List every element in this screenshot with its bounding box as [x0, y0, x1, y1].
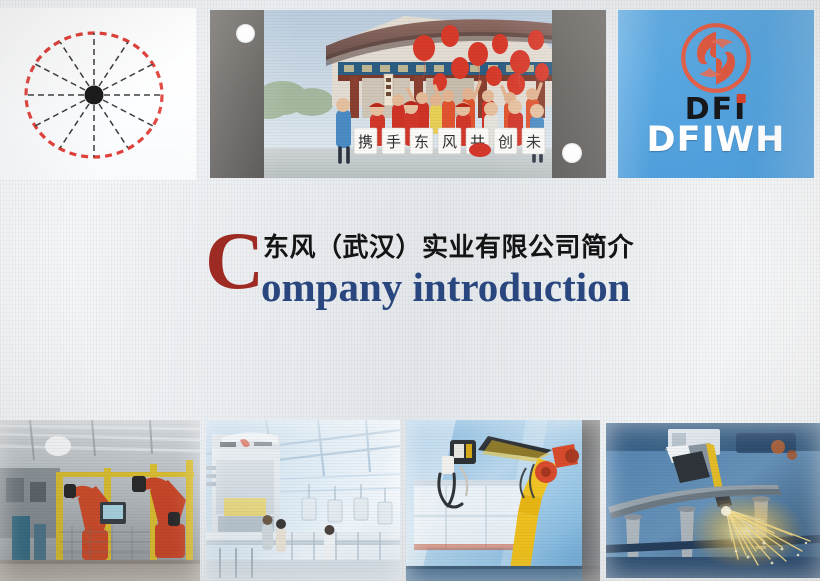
photo-laser-cutting-sparks — [606, 423, 820, 578]
svg-text:携: 携 — [358, 133, 373, 151]
spoke-wheel-diagram — [14, 22, 174, 168]
svg-text:风: 风 — [442, 133, 457, 151]
filmstrip-hole — [562, 143, 582, 163]
top-image-band: 携手 东风 共创 未 — [0, 0, 820, 182]
bottom-image-strip — [0, 420, 820, 581]
svg-text:创: 创 — [498, 133, 513, 151]
svg-text:手: 手 — [386, 133, 401, 151]
yellow-robot-arm-image — [406, 420, 600, 581]
filmstrip-band-right — [552, 10, 606, 178]
dongfeng-emblem-icon — [677, 19, 755, 97]
drop-cap-letter: C — [205, 220, 264, 302]
laser-cutting-sparks-image — [606, 423, 820, 578]
group-photo: 携手 东风 共创 未 — [264, 10, 552, 178]
dfiwh-wordmark: DFIWH — [647, 123, 786, 158]
dfi-accent-dot — [736, 94, 745, 103]
robotic-welding-line-image — [0, 420, 200, 581]
photo-yellow-robot-arm — [406, 420, 600, 581]
title-english: ompany introduction — [261, 263, 630, 311]
title-block: C 东风（武汉）实业有限公司简介 ompany introduction — [0, 224, 820, 334]
group-photo-panel: 携手 东风 共创 未 — [210, 10, 606, 178]
dongfeng-logo-panel: DFI DFIWH — [618, 10, 814, 178]
svg-text:东: 东 — [414, 133, 429, 151]
photo-stamping-press-hall — [206, 420, 400, 581]
photo-robotic-welding-line — [0, 420, 200, 581]
wheel-diagram-panel — [0, 8, 196, 180]
spoke-wheel-icon — [14, 22, 174, 168]
svg-text:未: 未 — [526, 133, 541, 151]
presentation-slide: 携手 东风 共创 未 — [0, 0, 820, 581]
dongfeng-twin-swallow-emblem — [677, 19, 755, 97]
title-chinese: 东风（武汉）实业有限公司简介 — [263, 233, 634, 263]
group-photo-image: 携手 东风 共创 未 — [264, 10, 552, 178]
filmstrip-band-left — [210, 10, 264, 178]
filmstrip-hole — [236, 24, 255, 43]
stamping-press-hall-image — [206, 420, 400, 581]
